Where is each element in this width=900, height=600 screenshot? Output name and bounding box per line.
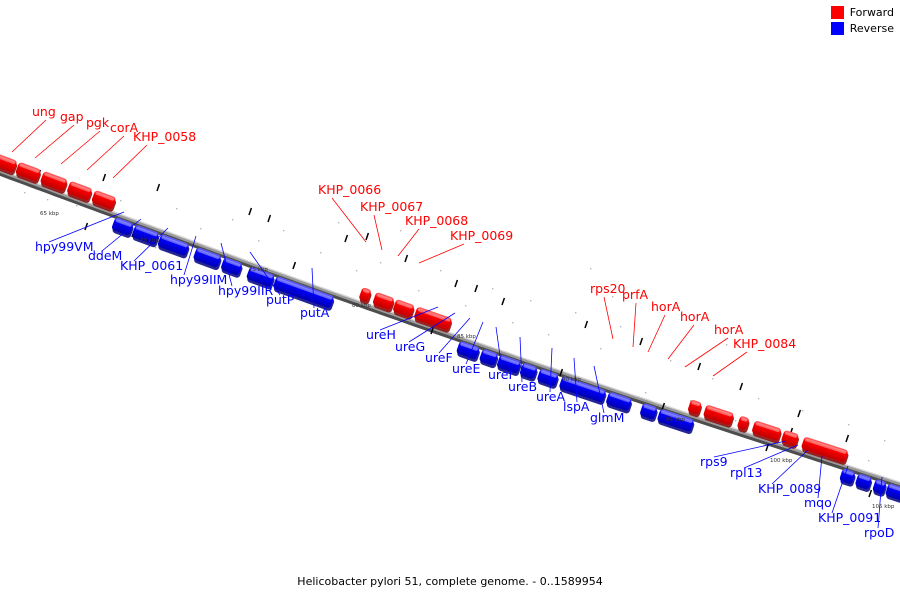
gene-label: pgk (86, 115, 110, 130)
speck (802, 410, 803, 411)
speck (512, 322, 513, 323)
leader-line (87, 136, 124, 170)
tick-mark (475, 285, 477, 292)
leader-line (12, 120, 46, 152)
blue-square-icon (831, 22, 844, 35)
gene-label: mqo (804, 495, 832, 510)
tick-mark (502, 298, 504, 305)
ruler-tick-label: 90 kbp (562, 377, 581, 383)
gene-label: rps9 (700, 454, 728, 469)
genome-map-canvas: 65 kbp70 kbp75 kbp80 kbp85 kbp90 kbp95 k… (0, 0, 900, 600)
genome-diagram: 65 kbp70 kbp75 kbp80 kbp85 kbp90 kbp95 k… (0, 0, 900, 600)
tick-mark (740, 383, 742, 390)
ruler-tick-label: 100 kbp (770, 458, 793, 464)
gene-label: KHP_0068 (405, 213, 468, 228)
tick-mark (293, 262, 295, 269)
page-caption: Helicobacter pylori 51, complete genome.… (0, 575, 900, 588)
speck (575, 312, 576, 313)
tick-mark (455, 280, 457, 287)
gene-label: rps20 (590, 281, 626, 296)
tick-mark (846, 435, 848, 442)
speck (848, 424, 849, 425)
leader-line (668, 325, 694, 359)
speck (380, 262, 381, 263)
gene-labels: unggappgkcorAKHP_0058hpy99VMddeMKHP_0061… (32, 104, 894, 540)
gene-label: KHP_0089 (758, 481, 821, 496)
speck (600, 348, 601, 349)
tick-mark (869, 490, 871, 497)
speck (283, 230, 284, 231)
tick-mark (640, 338, 642, 345)
speck (492, 288, 493, 289)
gene-label: ureG (395, 339, 425, 354)
gene-label: ureH (366, 327, 396, 342)
gene-label: horA (680, 309, 710, 324)
gene-label: putA (300, 305, 330, 320)
tick-mark (157, 184, 159, 191)
gene-label: ureA (536, 389, 565, 404)
tick-mark (585, 321, 587, 328)
speck (868, 460, 869, 461)
speck (645, 392, 646, 393)
legend-label-forward: Forward (850, 6, 894, 19)
tick-mark (345, 235, 347, 242)
gene-label: ddeM (88, 248, 122, 263)
tick-mark (268, 215, 270, 222)
tick-mark (698, 363, 700, 370)
leader-line (61, 131, 100, 164)
speck (356, 270, 357, 271)
leader-line (832, 466, 848, 513)
gene-label: ung (32, 104, 56, 119)
gene-label: lspA (563, 399, 590, 414)
gene-label: horA (714, 322, 744, 337)
gene-label: ureF (425, 350, 453, 365)
legend-item-forward: Forward (831, 6, 894, 19)
gene-label: glmM (590, 410, 624, 425)
tick-mark (249, 208, 251, 215)
gene-label: KHP_0066 (318, 182, 381, 197)
speck (712, 378, 713, 379)
speck (620, 326, 621, 327)
gene-label: KHP_0067 (360, 199, 423, 214)
leader-line (604, 297, 613, 339)
gene-label: putP (266, 292, 295, 307)
speck (155, 247, 156, 248)
speck (735, 420, 736, 421)
gene-label: gap (60, 109, 84, 124)
legend-item-reverse: Reverse (831, 22, 894, 35)
ruler-tick-label: 85 kbp (457, 334, 476, 340)
tick-mark (405, 255, 407, 262)
ruler-tick-label: 65 kbp (40, 211, 59, 217)
leader-line (398, 229, 419, 256)
gene-label: KHP_0058 (133, 129, 196, 144)
gene-label: hpy99VM (35, 239, 94, 254)
leader-line (713, 352, 747, 376)
leader-line (772, 450, 808, 484)
tick-mark (366, 233, 368, 240)
leader-line (35, 125, 74, 158)
tick-mark (103, 174, 105, 181)
speck (120, 200, 121, 201)
speck (338, 222, 339, 223)
speck (548, 334, 549, 335)
speck (400, 230, 401, 231)
speck (465, 305, 466, 306)
gene-label: ureE (452, 361, 480, 376)
leader-line (633, 303, 636, 347)
speck (200, 228, 201, 229)
gene-label: prfA (622, 287, 648, 302)
legend: Forward Reverse (831, 6, 894, 35)
gene-label: rpoD (864, 525, 894, 540)
gene-label: ureB (508, 379, 537, 394)
gene-label: KHP_0084 (733, 336, 796, 351)
gene-label: KHP_0061 (120, 258, 183, 273)
gene-label: rpl13 (730, 465, 762, 480)
legend-label-reverse: Reverse (850, 22, 894, 35)
leader-line (685, 338, 728, 367)
leader-line (419, 244, 464, 263)
ruler-tick-label: 80 kbp (352, 303, 371, 309)
ruler-tick-label: 70 kbp (140, 238, 159, 244)
speck (612, 296, 613, 297)
speck (232, 219, 233, 220)
speck (47, 199, 48, 200)
speck (530, 300, 531, 301)
ruler-tick-label: 75 kbp (249, 267, 268, 273)
speck (258, 240, 259, 241)
gene-label: horA (651, 299, 681, 314)
speck (670, 360, 671, 361)
speck (758, 398, 759, 399)
leader-line (374, 215, 382, 250)
gene-label: KHP_0091 (818, 510, 881, 525)
speck (884, 440, 885, 441)
leader-line (648, 315, 665, 352)
red-square-icon (831, 6, 844, 19)
speck (440, 270, 441, 271)
leader-line (113, 145, 147, 178)
ruler-tick-label: 95 kbp (666, 417, 685, 423)
gene-blocks (0, 153, 900, 504)
speck (320, 252, 321, 253)
speck (24, 192, 25, 193)
speck (726, 344, 727, 345)
gene-label: KHP_0069 (450, 228, 513, 243)
speck (418, 290, 419, 291)
speck (176, 208, 177, 209)
speck (76, 205, 77, 206)
speck (590, 268, 591, 269)
tick-mark (798, 410, 800, 417)
